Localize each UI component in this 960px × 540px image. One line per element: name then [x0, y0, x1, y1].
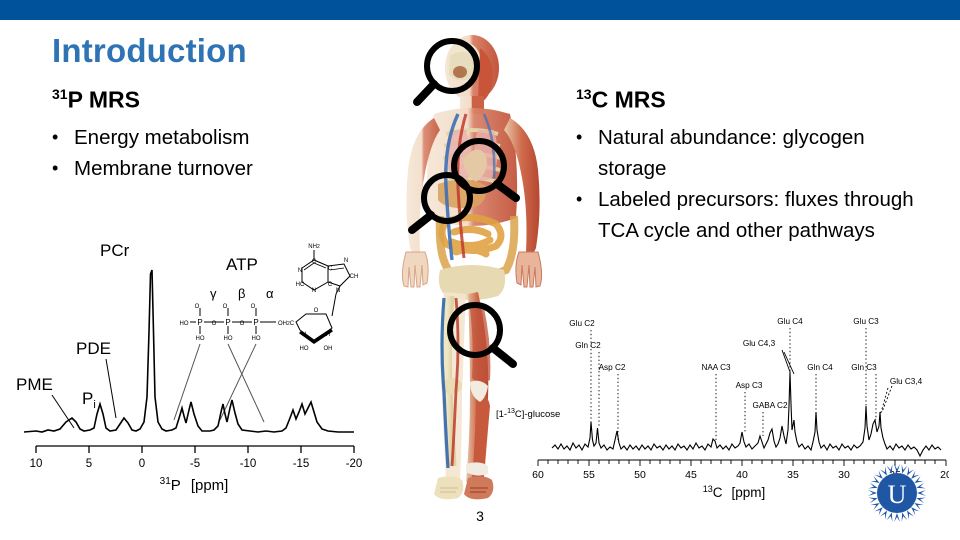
atp-molecule-structure: γ β α O O O P — [180, 244, 359, 352]
svg-text:HO: HO — [196, 336, 205, 342]
utrecht-university-logo: U — [866, 462, 928, 524]
p31-mrs-spectrum-chart: PME Pi PDE PCr ATP γ β α — [14, 232, 364, 497]
svg-text:OH: OH — [324, 346, 333, 352]
svg-text:C: C — [312, 259, 317, 265]
label-glu-c43: Glu C4,3 — [743, 339, 776, 348]
right-column-heading: 13C MRS — [576, 86, 666, 114]
svg-text:45: 45 — [685, 469, 697, 481]
svg-text:O: O — [195, 304, 200, 310]
bullet-glyph: • — [576, 122, 598, 153]
svg-text:N: N — [312, 288, 316, 294]
left-column-heading: 31P MRS — [52, 86, 140, 114]
logo-letter: U — [888, 480, 907, 509]
svg-text:0: 0 — [139, 458, 145, 470]
label-naa-c3: NAA C3 — [701, 363, 731, 372]
bullet-text: Natural abundance: glycogen storage — [598, 122, 916, 184]
svg-text:5: 5 — [86, 458, 92, 470]
svg-text:N: N — [298, 268, 302, 274]
list-item: • Natural abundance: glycogen storage — [576, 122, 916, 184]
left-heading-superscript: 31 — [52, 86, 68, 102]
label-asp-c3: Asp C3 — [736, 381, 763, 390]
page-title: Introduction — [52, 32, 247, 70]
peak-label-pde: PDE — [76, 339, 111, 358]
label-glu-c34: Glu C3,4 — [890, 377, 923, 386]
right-heading-superscript: 13 — [576, 86, 592, 102]
svg-text:C: C — [328, 282, 333, 288]
svg-text:P: P — [253, 318, 258, 327]
c13-glucose-label: [1-13C]-glucose — [496, 408, 560, 420]
c13-leader-lines — [591, 328, 876, 440]
label-gln-c4: Gln C4 — [807, 363, 833, 372]
label-glu-c4: Glu C4 — [777, 317, 803, 326]
svg-text:HC: HC — [296, 282, 305, 288]
c13-annotations: Glu C2 Gln C2 Asp C2 NAA C3 Asp C3 GABA … — [569, 317, 922, 410]
svg-text:P: P — [197, 318, 202, 327]
label-gln-c2: Gln C2 — [575, 341, 601, 350]
list-item: • Membrane turnover — [52, 153, 352, 184]
p31-tick-labels: 10 5 0 -5 -10 -15 -20 — [30, 458, 363, 470]
left-heading-text: P MRS — [68, 87, 140, 113]
svg-text:O: O — [223, 304, 228, 310]
svg-text:O: O — [212, 321, 217, 327]
atp-beta-label: β — [238, 286, 245, 301]
svg-text:N: N — [344, 258, 348, 264]
svg-text:CH: CH — [350, 274, 359, 280]
c13-axis-label: 13C[ppm] — [703, 484, 766, 500]
svg-text:C: C — [328, 266, 333, 272]
svg-text:HO: HO — [300, 346, 309, 352]
right-column-bullets: • Natural abundance: glycogen storage • … — [576, 122, 916, 246]
svg-text:H: H — [302, 332, 306, 338]
peak-label-pme: PME — [16, 375, 53, 394]
slide-number: 3 — [0, 508, 960, 524]
atp-alpha-label: α — [266, 286, 274, 301]
right-heading-text: C MRS — [592, 87, 666, 113]
left-column-bullets: • Energy metabolism • Membrane turnover — [52, 122, 352, 184]
bullet-glyph: • — [52, 153, 74, 184]
svg-text:O: O — [251, 304, 256, 310]
peak-label-atp: ATP — [226, 255, 258, 274]
svg-text:-15: -15 — [293, 458, 310, 470]
svg-text:40: 40 — [736, 469, 748, 481]
svg-text:HO: HO — [180, 321, 189, 327]
svg-text:NH2: NH2 — [308, 244, 320, 250]
bullet-text: Labeled precursors: fluxes through TCA c… — [598, 184, 916, 246]
svg-text:P: P — [225, 318, 230, 327]
label-glu-c3: Glu C3 — [853, 317, 879, 326]
svg-text:O: O — [240, 321, 245, 327]
label-gln-c3: Gln C3 — [851, 363, 877, 372]
bullet-glyph: • — [52, 122, 74, 153]
svg-text:30: 30 — [838, 469, 850, 481]
svg-text:-5: -5 — [190, 458, 200, 470]
peak-label-pi: Pi — [82, 389, 96, 411]
svg-text:H: H — [326, 332, 330, 338]
atp-gamma-label: γ — [210, 286, 217, 301]
svg-text:50: 50 — [634, 469, 646, 481]
bullet-text: Energy metabolism — [74, 122, 352, 153]
svg-text:O: O — [314, 308, 319, 314]
svg-text:10: 10 — [30, 458, 43, 470]
list-item: • Labeled precursors: fluxes through TCA… — [576, 184, 916, 246]
svg-text:20: 20 — [940, 469, 949, 481]
svg-text:60: 60 — [532, 469, 544, 481]
bullet-text: Membrane turnover — [74, 153, 352, 184]
svg-text:OH2C: OH2C — [278, 321, 295, 327]
c13-glu43-leaders — [782, 350, 794, 374]
bullet-glyph: • — [576, 184, 598, 215]
svg-text:-20: -20 — [346, 458, 363, 470]
label-gaba-c2: GABA C2 — [752, 401, 787, 410]
svg-text:35: 35 — [787, 469, 799, 481]
list-item: • Energy metabolism — [52, 122, 352, 153]
peak-label-pcr: PCr — [100, 241, 130, 260]
slide-accent-bar — [0, 0, 960, 20]
p31-axis-label: 31P[ppm] — [160, 476, 229, 494]
c13-glu34-leaders — [880, 386, 892, 416]
label-asp-c2: Asp C2 — [599, 363, 626, 372]
svg-text:HO: HO — [252, 336, 261, 342]
svg-text:-10: -10 — [240, 458, 257, 470]
svg-text:N: N — [336, 288, 340, 294]
slide-root: Introduction 31P MRS • Energy metabolism… — [0, 0, 960, 540]
svg-text:HO: HO — [224, 336, 233, 342]
p31-axis — [36, 446, 354, 453]
svg-text:55: 55 — [583, 469, 595, 481]
label-glu-c2: Glu C2 — [569, 319, 595, 328]
